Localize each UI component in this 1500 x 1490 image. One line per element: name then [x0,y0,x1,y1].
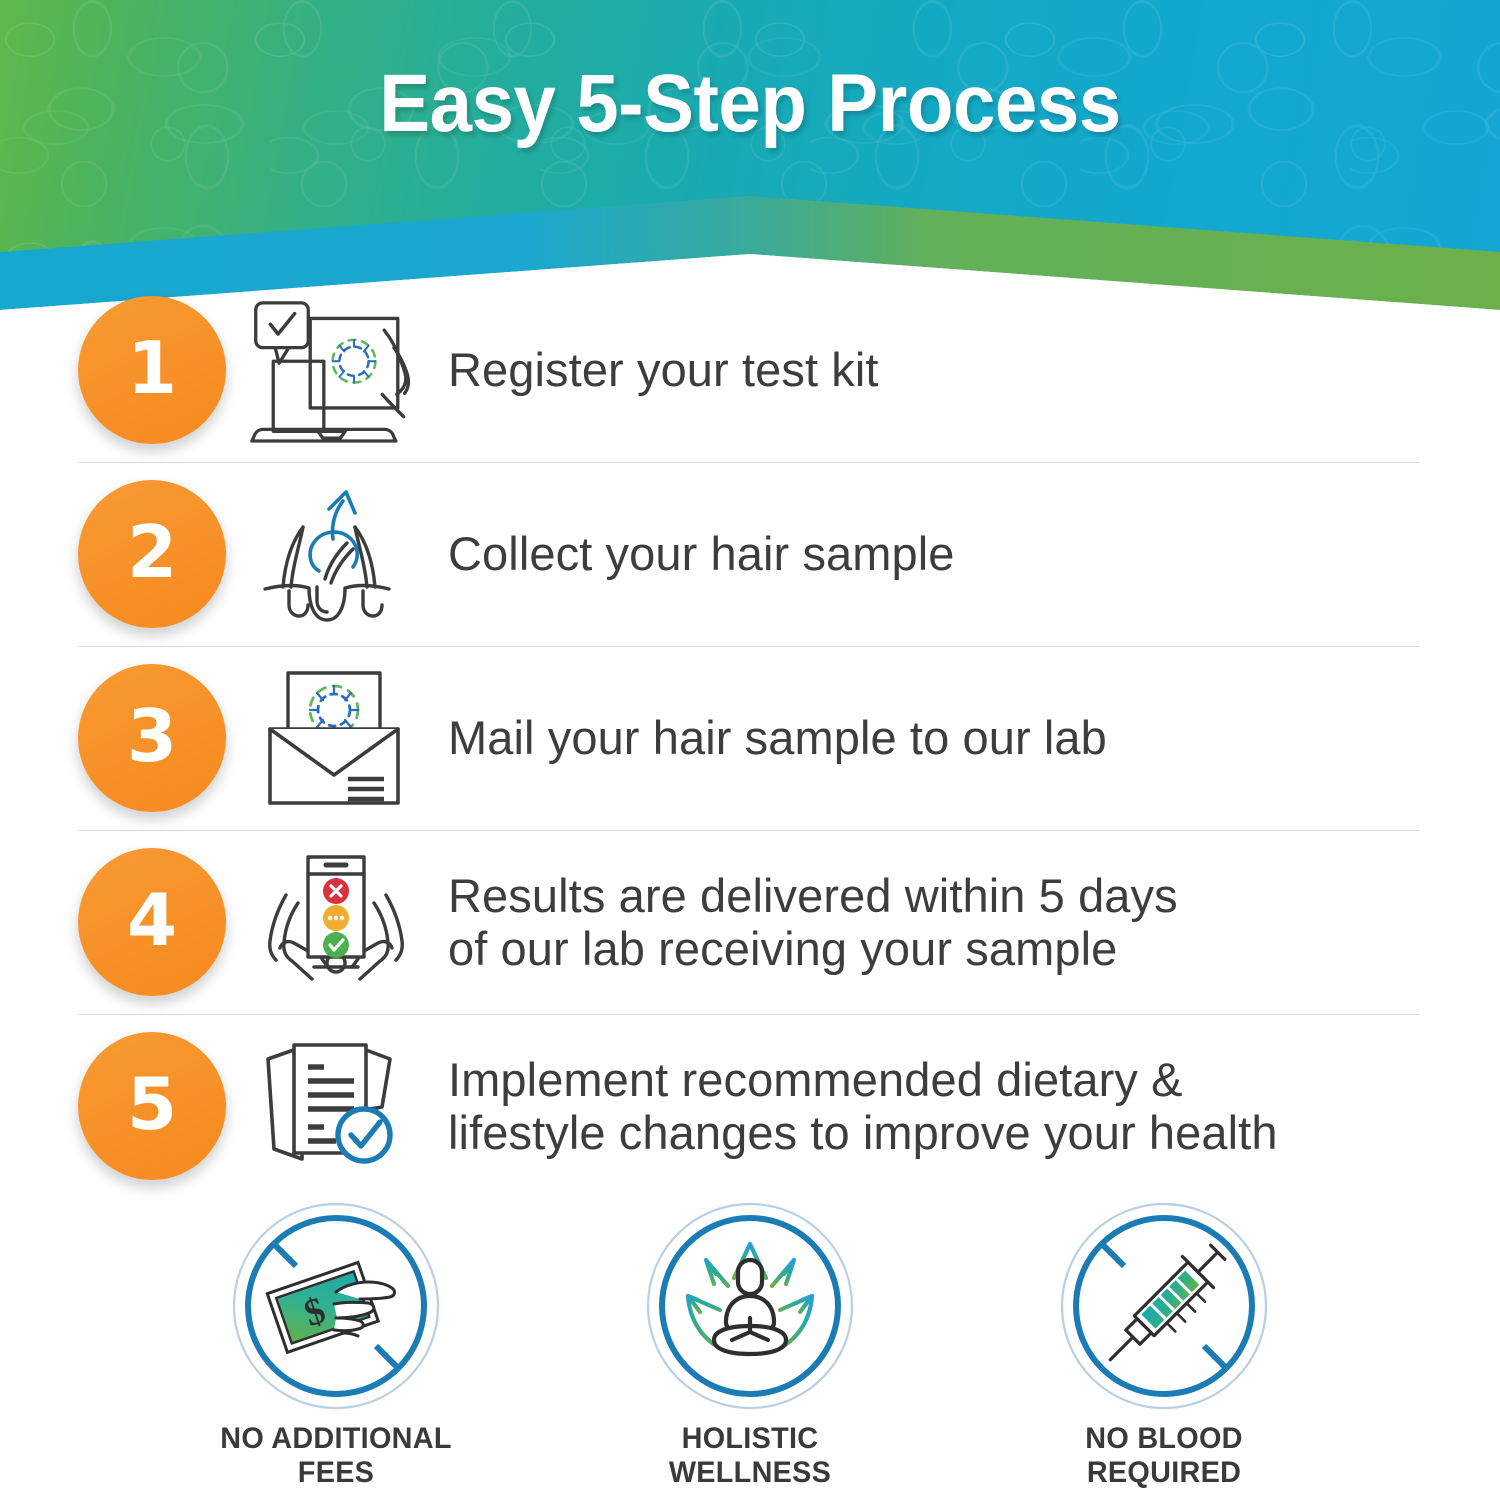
step-number-1: 1 [127,332,177,404]
laptop-register-icon [246,290,426,450]
step-number-2: 2 [127,516,177,588]
step-label-2: Collect your hair sample [426,527,955,580]
phone-results-icon [246,842,426,1002]
header-chevron-shape [0,0,1500,310]
status-lights [323,878,349,958]
step-number-badge-5: 5 [78,1032,226,1180]
step-label-5-line2: lifestyle changes to improve your health [448,1106,1278,1159]
step-row-5: 5 [0,1014,1500,1198]
steps-list: 1 [0,278,1500,1198]
step-number-badge-3: 3 [78,664,226,812]
step-number-3: 3 [127,700,177,772]
no-money-icon: $ [186,1198,486,1414]
no-syringe-icon [1014,1198,1314,1414]
step-label-4-line2: of our lab receiving your sample [448,922,1178,975]
step-row-2: 2 [0,462,1500,646]
step-label-5-line1: Implement recommended dietary & [448,1053,1183,1106]
header-banner: Easy 5-Step Process [0,0,1500,310]
step-label-5: Implement recommended dietary & lifestyl… [426,1053,1278,1159]
step-number-4: 4 [127,884,177,956]
feature-label-no-blood-required: NO BLOOD REQUIRED [1020,1422,1308,1490]
hair-follicle-icon [246,474,426,634]
feature-label-no-additional-fees: NO ADDITIONAL FEES [192,1422,480,1490]
step-row-3: 3 [0,646,1500,830]
step-label-1: Register your test kit [426,343,879,396]
status-green-check [323,932,349,958]
documents-check-icon [246,1026,426,1186]
feature-no-additional-fees: $ NO ADDITIONAL FEES [186,1198,486,1490]
step-label-4: Results are delivered within 5 days of o… [426,869,1178,975]
blue-check-circle [338,1109,390,1161]
step-label-1-line1: Register your test kit [448,343,879,396]
dna-circle-logo [333,340,376,383]
feature-holistic-wellness: HOLISTIC WELLNESS [600,1198,900,1490]
step-label-2-line1: Collect your hair sample [448,527,955,580]
step-number-badge-1: 1 [78,296,226,444]
page-title: Easy 5-Step Process [53,57,1448,151]
step-number-badge-2: 2 [78,480,226,628]
lotus-meditation-icon [600,1198,900,1414]
envelope-sample-icon [246,658,426,818]
feature-label-holistic-wellness: HOLISTIC WELLNESS [606,1422,894,1490]
step-number-5: 5 [127,1068,177,1140]
feature-no-blood-required: NO BLOOD REQUIRED [1014,1198,1314,1490]
step-row-1: 1 [0,278,1500,462]
step-number-badge-4: 4 [78,848,226,996]
step-row-4: 4 [0,830,1500,1014]
features-row: $ NO ADDITIONAL FEES [0,1198,1500,1490]
step-label-3-line1: Mail your hair sample to our lab [448,711,1107,764]
step-label-4-line1: Results are delivered within 5 days [448,869,1178,922]
step-label-3: Mail your hair sample to our lab [426,711,1107,764]
